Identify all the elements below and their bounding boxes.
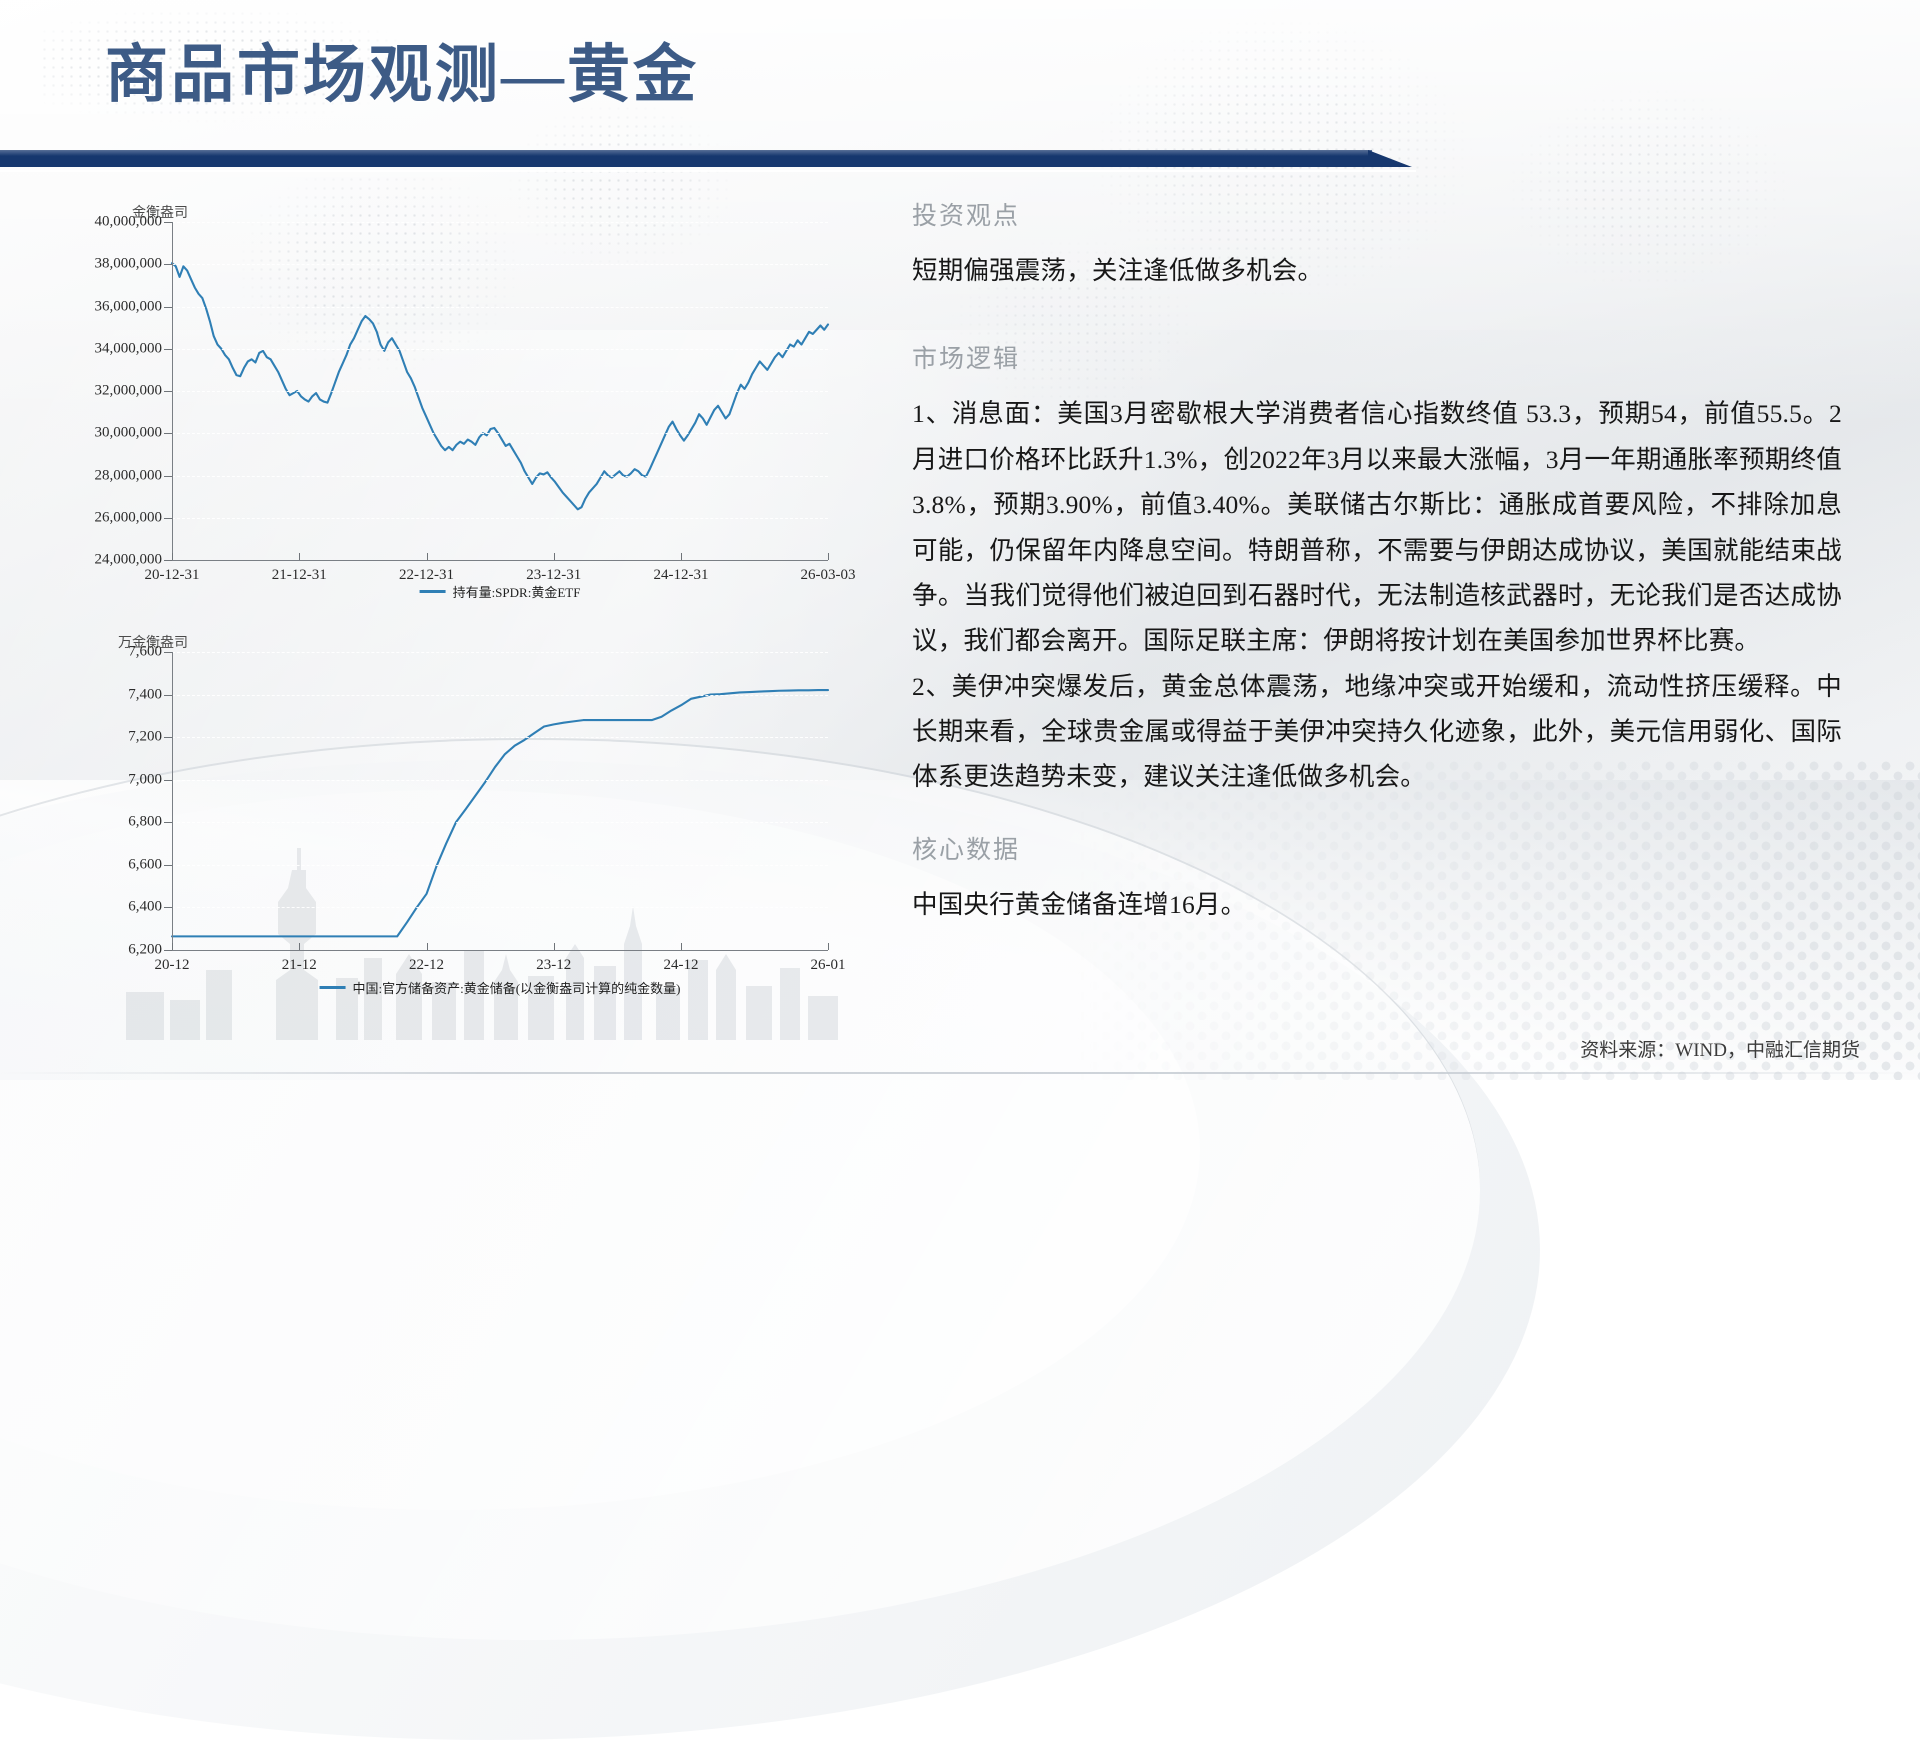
section-heading: 市场逻辑 bbox=[912, 339, 1842, 375]
chart-y-axis-line bbox=[172, 222, 173, 560]
chart-y-axis-tick-mark bbox=[164, 433, 172, 434]
chart-y-axis-tick-label: 34,000,000 bbox=[95, 340, 163, 357]
chart-gridline bbox=[172, 822, 828, 823]
chart-x-axis-line bbox=[172, 560, 828, 561]
section-spacer bbox=[912, 293, 1842, 339]
chart-y-axis-tick-mark bbox=[164, 264, 172, 265]
chart-y-axis-tick-mark bbox=[164, 652, 172, 653]
chart-y-axis-tick-label: 7,400 bbox=[128, 686, 162, 703]
chart-x-axis-tick-label: 26-03-03 bbox=[801, 567, 856, 584]
section-investment-view: 投资观点 短期偏强震荡，关注逢低做多机会。 bbox=[912, 196, 1842, 293]
chart-y-axis-tick-label: 24,000,000 bbox=[95, 552, 163, 569]
section-body-paragraph-1: 1、消息面：美国3月密歇根大学消费者信心指数终值 53.3，预期54，前值55.… bbox=[912, 391, 1842, 663]
chart-x-axis-tick-label: 20-12-31 bbox=[145, 567, 200, 584]
source-attribution: 资料来源：WIND，中融汇信期货 bbox=[1580, 1035, 1860, 1062]
chart-x-axis-tick-mark bbox=[299, 553, 300, 560]
chart-y-axis-tick-mark bbox=[164, 222, 172, 223]
chart-y-axis-tick-label: 7,600 bbox=[128, 644, 162, 661]
chart-china-legend: 中国:官方储备资产:黄金储备(以金衡盎司计算的纯金数量) bbox=[320, 978, 681, 997]
chart-y-axis-tick-label: 6,400 bbox=[128, 899, 162, 916]
chart-x-axis-tick-mark bbox=[681, 553, 682, 560]
chart-china-series-line bbox=[172, 652, 828, 950]
chart-x-axis-tick-label: 20-12 bbox=[155, 957, 190, 974]
section-spacer bbox=[912, 800, 1842, 830]
chart-china-plot-area bbox=[172, 652, 828, 950]
section-heading: 投资观点 bbox=[912, 196, 1842, 232]
chart-y-axis-tick-label: 26,000,000 bbox=[95, 509, 163, 526]
section-body: 中国央行黄金储备连增16月。 bbox=[912, 882, 1842, 927]
chart-gridline bbox=[172, 264, 828, 265]
header-accent-bar-tip bbox=[1368, 150, 1412, 167]
chart-y-axis-tick-mark bbox=[164, 391, 172, 392]
chart-y-axis-tick-mark bbox=[164, 349, 172, 350]
chart-y-axis-tick-label: 32,000,000 bbox=[95, 383, 163, 400]
charts-column: 金衡盎司 24,000,00026,000,00028,000,00030,00… bbox=[96, 210, 856, 1040]
legend-label: 中国:官方储备资产:黄金储备(以金衡盎司计算的纯金数量) bbox=[353, 978, 681, 997]
legend-label: 持有量:SPDR:黄金ETF bbox=[453, 582, 581, 601]
chart-y-axis-tick-label: 6,200 bbox=[128, 942, 162, 959]
chart-gridline bbox=[172, 865, 828, 866]
chart-gridline bbox=[172, 307, 828, 308]
chart-x-axis-tick-mark bbox=[681, 943, 682, 950]
chart-y-axis-tick-mark bbox=[164, 518, 172, 519]
chart-x-axis-tick-label: 21-12-31 bbox=[272, 567, 327, 584]
chart-gridline bbox=[172, 780, 828, 781]
chart-x-axis-tick-mark bbox=[172, 943, 173, 950]
chart-x-axis-tick-mark bbox=[828, 553, 829, 560]
chart-y-axis-tick-mark bbox=[164, 560, 172, 561]
chart-x-axis-tick-mark bbox=[828, 943, 829, 950]
chart-x-axis-tick-mark bbox=[172, 553, 173, 560]
chart-y-axis-tick-label: 7,000 bbox=[128, 771, 162, 788]
section-core-data: 核心数据 中国央行黄金储备连增16月。 bbox=[912, 830, 1842, 927]
section-heading: 核心数据 bbox=[912, 830, 1842, 866]
chart-x-axis-tick-label: 26-01 bbox=[811, 957, 846, 974]
chart-gridline bbox=[172, 907, 828, 908]
chart-x-axis-tick-mark bbox=[554, 553, 555, 560]
chart-x-axis-tick-mark bbox=[554, 943, 555, 950]
chart-x-axis-tick-label: 21-12 bbox=[282, 957, 317, 974]
header-hairline bbox=[0, 170, 1416, 172]
section-market-logic: 市场逻辑 1、消息面：美国3月密歇根大学消费者信心指数终值 53.3，预期54，… bbox=[912, 339, 1842, 799]
chart-spdr-gold-etf-holdings: 金衡盎司 24,000,00026,000,00028,000,00030,00… bbox=[96, 210, 856, 610]
chart-y-axis-line bbox=[172, 652, 173, 950]
chart-y-axis-tick-label: 40,000,000 bbox=[95, 214, 163, 231]
chart-y-axis-tick-mark bbox=[164, 907, 172, 908]
page-title: 商品市场观测—黄金 bbox=[105, 36, 699, 115]
chart-y-axis-tick-label: 7,200 bbox=[128, 729, 162, 746]
chart-y-axis-tick-label: 6,800 bbox=[128, 814, 162, 831]
chart-china-gold-reserve: 万金衡盎司 6,2006,4006,6006,8007,0007,2007,40… bbox=[96, 640, 856, 1040]
chart-x-axis-tick-label: 24-12-31 bbox=[654, 567, 709, 584]
chart-y-axis-tick-label: 6,600 bbox=[128, 856, 162, 873]
legend-color-swatch bbox=[320, 986, 346, 989]
chart-x-axis-tick-mark bbox=[427, 943, 428, 950]
chart-y-axis-tick-mark bbox=[164, 476, 172, 477]
chart-y-axis-tick-mark bbox=[164, 307, 172, 308]
chart-y-axis-tick-mark bbox=[164, 695, 172, 696]
chart-gridline bbox=[172, 391, 828, 392]
chart-x-axis-tick-label: 24-12 bbox=[664, 957, 699, 974]
chart-y-axis-tick-mark bbox=[164, 737, 172, 738]
slide-root: 商品市场观测—黄金 金衡盎司 24,000,00026,000,00028,00… bbox=[0, 0, 1920, 1080]
chart-y-axis-tick-label: 38,000,000 bbox=[95, 256, 163, 273]
section-body: 短期偏强震荡，关注逢低做多机会。 bbox=[912, 248, 1842, 293]
chart-gridline bbox=[172, 518, 828, 519]
chart-x-axis-tick-label: 23-12 bbox=[536, 957, 571, 974]
slide-header: 商品市场观测—黄金 bbox=[0, 0, 1920, 175]
chart-y-axis-tick-mark bbox=[164, 950, 172, 951]
chart-x-axis-tick-label: 22-12 bbox=[409, 957, 444, 974]
chart-y-axis-tick-label: 30,000,000 bbox=[95, 425, 163, 442]
chart-y-axis-tick-mark bbox=[164, 780, 172, 781]
chart-gridline bbox=[172, 652, 828, 653]
chart-spdr-legend: 持有量:SPDR:黄金ETF bbox=[420, 582, 581, 601]
chart-gridline bbox=[172, 476, 828, 477]
chart-y-axis-tick-mark bbox=[164, 822, 172, 823]
commentary-panel: 投资观点 短期偏强震荡，关注逢低做多机会。 市场逻辑 1、消息面：美国3月密歇根… bbox=[912, 196, 1842, 927]
chart-x-axis-tick-mark bbox=[427, 553, 428, 560]
section-body-paragraph-2: 2、美伊冲突爆发后，黄金总体震荡，地缘冲突或开始缓和，流动性挤压缓释。中长期来看… bbox=[912, 664, 1842, 800]
chart-x-axis-line bbox=[172, 950, 828, 951]
chart-y-axis-tick-label: 36,000,000 bbox=[95, 298, 163, 315]
chart-gridline bbox=[172, 433, 828, 434]
chart-x-axis-tick-mark bbox=[299, 943, 300, 950]
chart-gridline bbox=[172, 695, 828, 696]
legend-color-swatch bbox=[420, 590, 446, 593]
chart-y-axis-tick-label: 28,000,000 bbox=[95, 467, 163, 484]
chart-gridline bbox=[172, 737, 828, 738]
chart-y-axis-tick-mark bbox=[164, 865, 172, 866]
header-accent-bar-gloss bbox=[0, 150, 1372, 156]
footer-divider bbox=[0, 1072, 1920, 1074]
chart-gridline bbox=[172, 222, 828, 223]
chart-gridline bbox=[172, 349, 828, 350]
